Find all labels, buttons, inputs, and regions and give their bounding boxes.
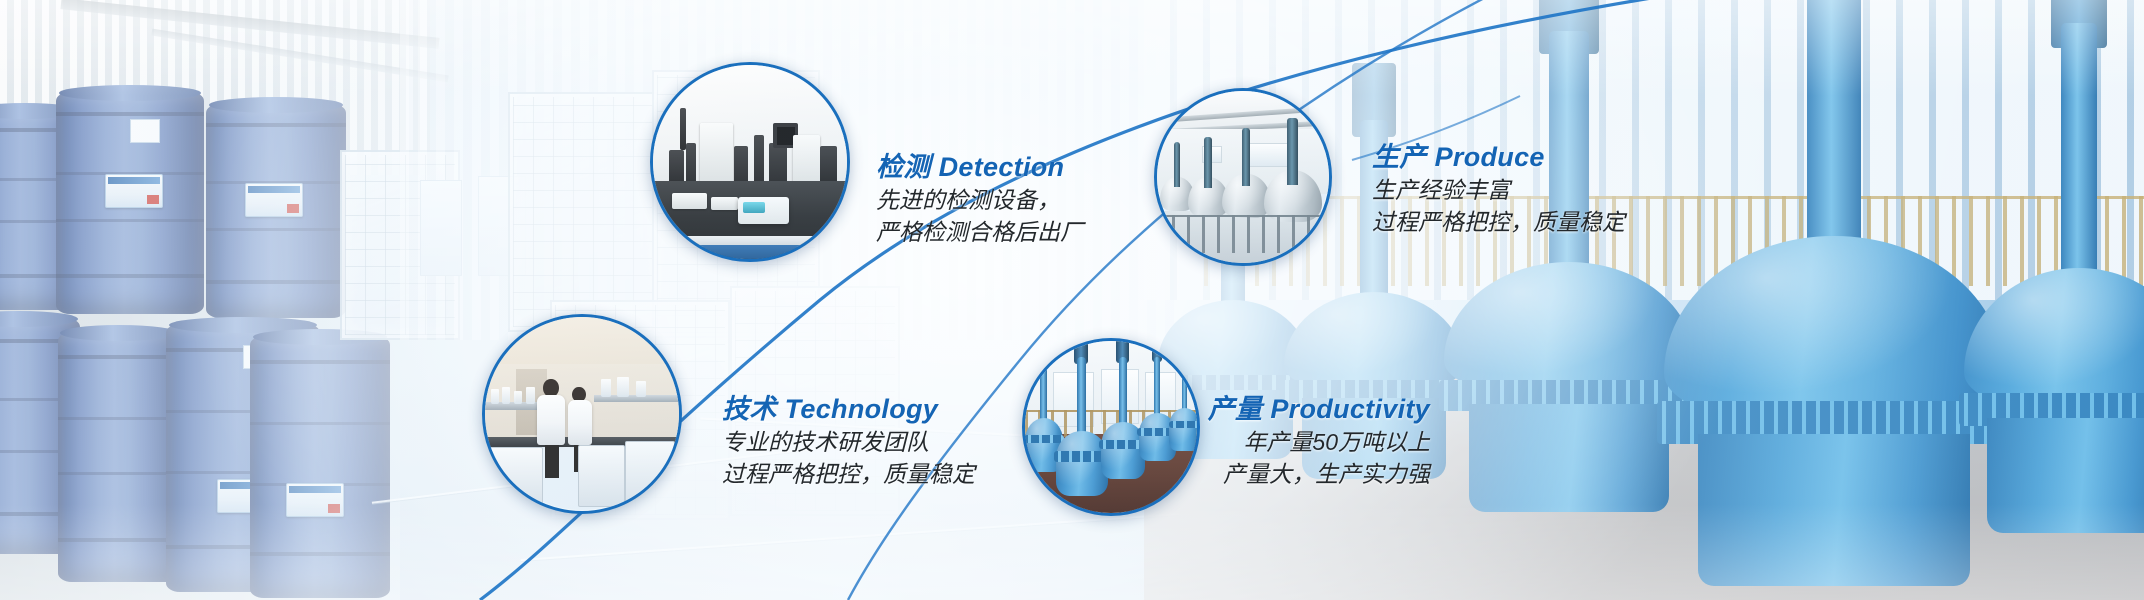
technology-heading: 技术Technology (722, 392, 975, 426)
blue-reactors-area (1144, 0, 2144, 600)
reactor-vessel (1444, 262, 1694, 498)
detection-heading-cn: 检测 (876, 152, 931, 182)
detection-heading: 检测Detection (876, 150, 1083, 184)
produce-line-1: 生产经验丰富 (1372, 174, 1625, 206)
detection-line-2: 严格检测合格后出厂 (876, 216, 1083, 248)
produce-heading-en: Produce (1427, 142, 1545, 172)
productivity-heading-en: Productivity (1262, 394, 1430, 424)
lab-cabinet (485, 447, 543, 505)
drum (56, 92, 204, 314)
company-strength-banner: 检测Detection 先进的检测设备， 严格检测合格后出厂 生产Produce… (0, 0, 2144, 600)
window (420, 180, 462, 276)
steel-reactor-hall-scene (1157, 91, 1329, 263)
lab-coat (568, 400, 591, 445)
feature-text-produce: 生产Produce 生产经验丰富 过程严格把控，质量稳定 (1372, 140, 1625, 238)
technology-line-2: 过程严格把控，质量稳定 (722, 458, 975, 490)
feature-photo-detection[interactable] (650, 62, 850, 262)
detection-heading-en: Detection (931, 152, 1065, 182)
reactor-vessel (1664, 236, 2004, 566)
drum-label (105, 174, 163, 208)
produce-heading: 生产Produce (1372, 140, 1625, 174)
drum-label (245, 183, 303, 217)
lab-instruments-scene (653, 65, 847, 259)
reactor-vessel (1964, 268, 2144, 518)
lab-coat (537, 395, 564, 445)
rd-laboratory-scene (485, 317, 679, 511)
blue-drums-area (0, 0, 430, 600)
technology-heading-en: Technology (777, 394, 939, 424)
window (1246, 143, 1291, 167)
drum-hazard-tag (130, 119, 160, 143)
feature-text-productivity: 产量Productivity 年产量50万吨以上 产量大，生产实力强 (1000, 392, 1430, 490)
feature-text-technology: 技术Technology 专业的技术研发团队 过程严格把控，质量稳定 (722, 392, 975, 490)
produce-line-2: 过程严格把控，质量稳定 (1372, 206, 1625, 238)
technology-line-1: 专业的技术研发团队 (722, 426, 975, 458)
detection-line-1: 先进的检测设备， (876, 184, 1083, 216)
technology-heading-cn: 技术 (722, 394, 777, 424)
drum (250, 336, 390, 598)
lab-cabinet (578, 445, 625, 507)
digital-scale (738, 197, 788, 224)
lab-cabinet (625, 441, 675, 507)
productivity-heading-cn: 产量 (1208, 394, 1263, 424)
productivity-heading: 产量Productivity (1000, 392, 1430, 426)
drum-label (286, 483, 344, 517)
productivity-line-1: 年产量50万吨以上 (1000, 426, 1430, 458)
ibc-tote (508, 92, 658, 332)
feature-text-detection: 检测Detection 先进的检测设备， 严格检测合格后出厂 (876, 150, 1083, 248)
person-head (543, 379, 559, 396)
drum (58, 332, 180, 582)
feature-photo-produce[interactable] (1154, 88, 1332, 266)
drum (206, 104, 346, 318)
produce-heading-cn: 生产 (1372, 142, 1427, 172)
feature-photo-technology[interactable] (482, 314, 682, 514)
productivity-line-2: 产量大，生产实力强 (1000, 458, 1430, 490)
